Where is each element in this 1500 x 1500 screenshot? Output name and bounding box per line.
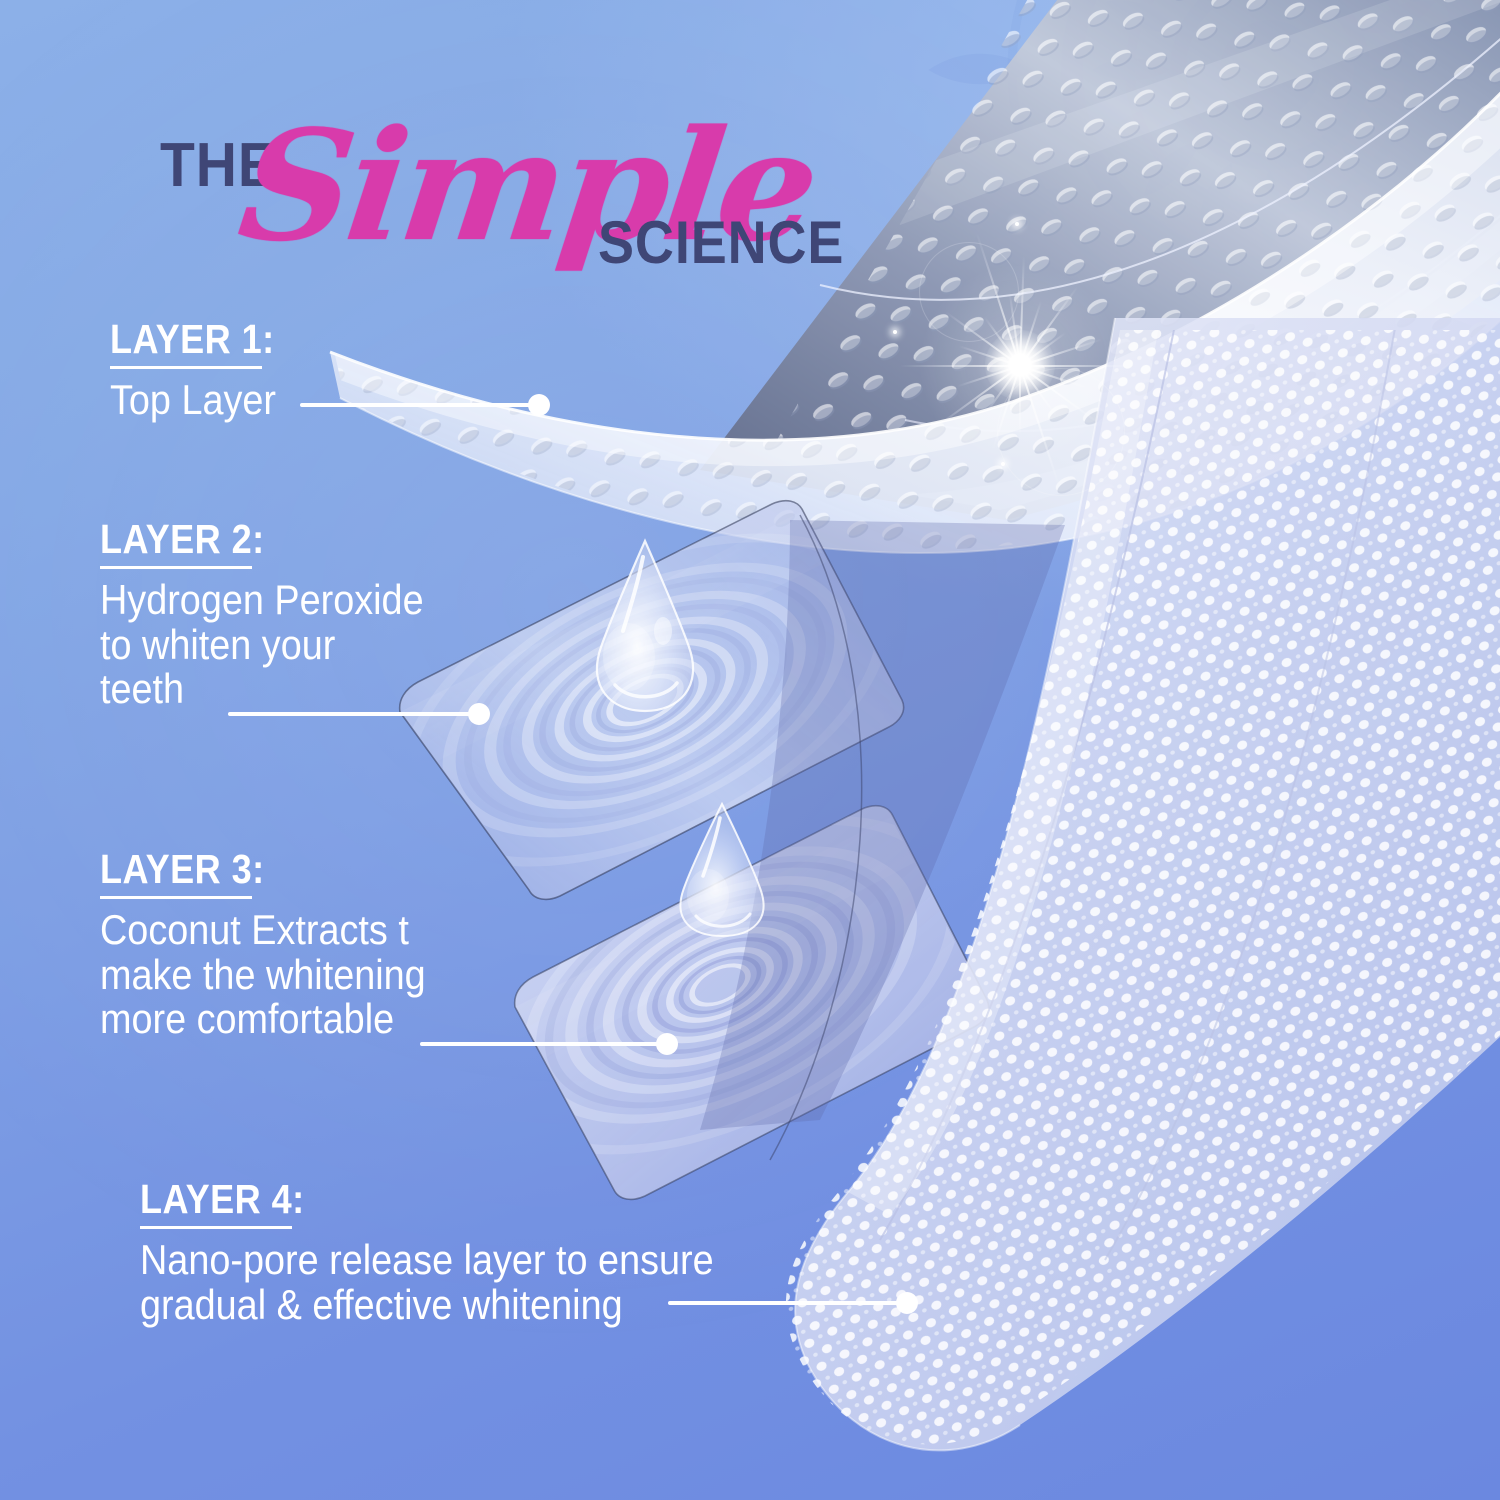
layer-4-title: LAYER 4: <box>140 1178 305 1221</box>
layer-1-connector-dot <box>528 394 550 416</box>
infographic-canvas: THE Simple SCIENCE LAYER 1: Top Layer LA… <box>0 0 1500 1500</box>
layer-2-connector <box>228 703 502 725</box>
logo-lockup: THE Simple SCIENCE <box>160 108 880 288</box>
layer-4-underline <box>140 1226 292 1229</box>
layer-2-block: LAYER 2: Hydrogen Peroxide to whiten you… <box>100 518 500 712</box>
layer-3-block: LAYER 3: Coconut Extracts t make the whi… <box>100 848 520 1042</box>
layer-1-connector-line <box>300 403 540 407</box>
layer-3-connector <box>420 1033 690 1055</box>
layer-4-connector-dot <box>896 1292 918 1314</box>
logo-science: SCIENCE <box>598 208 844 277</box>
layer-3-connector-dot <box>656 1033 678 1055</box>
layer-2-description: Hydrogen Peroxide to whiten your teeth <box>100 578 460 712</box>
layer-2-title: LAYER 2: <box>100 518 265 561</box>
layer-2-connector-line <box>228 712 480 716</box>
layer-3-title: LAYER 3: <box>100 848 265 891</box>
layer-1-underline <box>110 366 262 369</box>
layer-1-title: LAYER 1: <box>110 318 275 361</box>
layer-2-underline <box>100 566 252 569</box>
layer-4-connector-line <box>668 1301 908 1305</box>
layer-3-description: Coconut Extracts t make the whitening mo… <box>100 908 478 1042</box>
layer-3-connector-line <box>420 1042 668 1046</box>
layer-1-connector <box>300 394 562 416</box>
layer-3-underline <box>100 896 252 899</box>
layer-2-connector-dot <box>468 703 490 725</box>
layer-4-connector <box>668 1292 930 1314</box>
